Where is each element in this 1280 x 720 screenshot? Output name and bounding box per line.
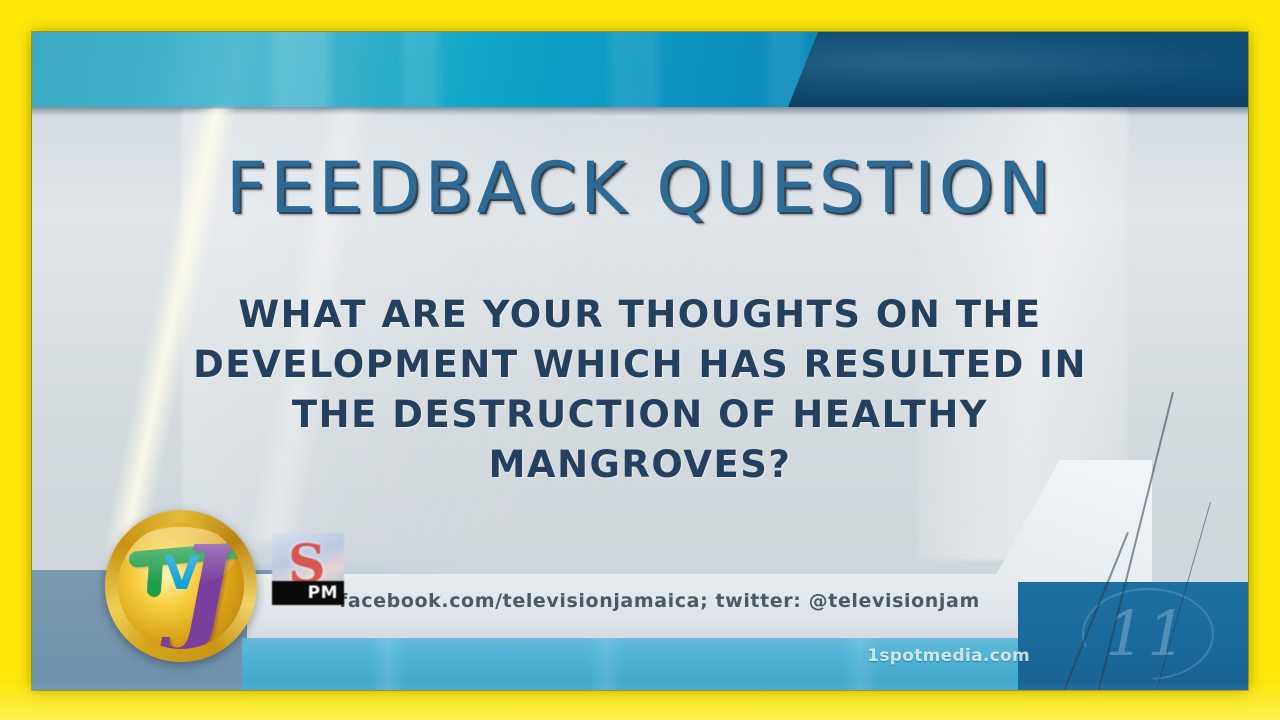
- thumbnail-caption-bar: PM: [272, 581, 344, 605]
- question-line-2: DEVELOPMENT WHICH HAS RESULTED IN: [122, 340, 1158, 390]
- site-watermark: 1spotmedia.com: [867, 646, 1030, 666]
- bottom-right-blue-panel: 11: [1018, 582, 1248, 690]
- yellow-frame: FEEDBACK QUESTION WHAT ARE YOUR THOUGHTS…: [0, 0, 1280, 720]
- social-handles-text: facebook.com/televisionjamaica; twitter:…: [339, 590, 980, 612]
- logo-inner-disc: V J: [118, 523, 244, 649]
- corner-watermark-number: 11: [1082, 594, 1212, 674]
- banner-navy-block: [788, 32, 1248, 107]
- top-banner: [32, 32, 1248, 107]
- question-line-3: THE DESTRUCTION OF HEALTHY: [122, 390, 1158, 440]
- page-title: FEEDBACK QUESTION: [32, 147, 1248, 229]
- thumbnail-time-label: PM: [308, 583, 338, 603]
- question-line-1: WHAT ARE YOUR THOUGHTS ON THE: [122, 290, 1158, 340]
- banner-navy-glow: [788, 32, 1248, 107]
- tvj-logo: V J: [105, 510, 257, 662]
- video-thumbnail: S PM: [272, 533, 344, 605]
- logo-j-letter: J: [170, 537, 242, 641]
- logo-t-stem-icon: [147, 555, 164, 598]
- broadcast-screen: FEEDBACK QUESTION WHAT ARE YOUR THOUGHTS…: [32, 32, 1248, 690]
- feedback-question-text: WHAT ARE YOUR THOUGHTS ON THE DEVELOPMEN…: [122, 290, 1158, 490]
- question-line-4: MANGROVES?: [122, 440, 1158, 490]
